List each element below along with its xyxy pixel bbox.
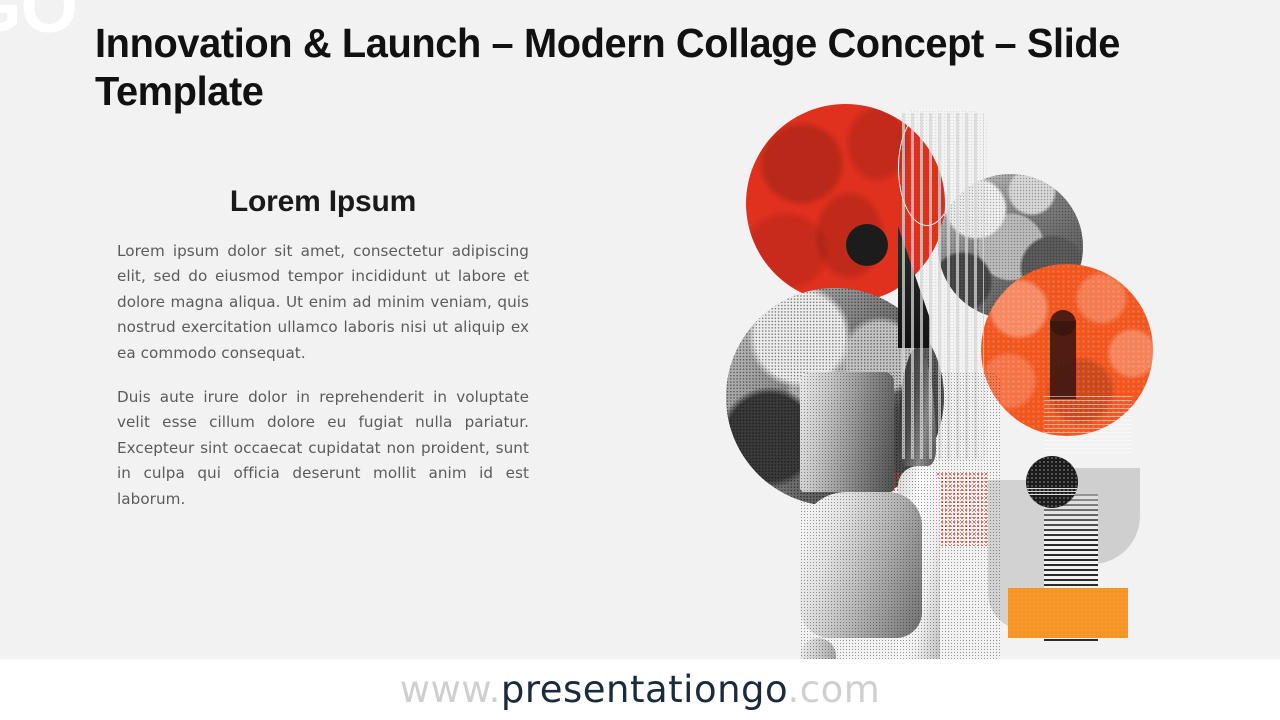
black-circle-stripes: [1026, 488, 1078, 496]
hand-graphic: [800, 372, 1000, 659]
footer-bar: www.presentationgo.com: [0, 659, 1280, 720]
text-content-column: Lorem Ipsum Lorem ipsum dolor sit amet, …: [117, 185, 529, 512]
rocket-collage-illustration: [726, 96, 1126, 659]
website-url[interactable]: www.presentationgo.com: [400, 668, 881, 711]
content-heading: Lorem Ipsum: [117, 185, 529, 219]
forearm-speckle: [800, 372, 1000, 659]
body-paragraph-1: Lorem ipsum dolor sit amet, consectetur …: [117, 239, 529, 366]
slide-canvas: GO Innovation & Launch – Modern Collage …: [0, 0, 1280, 659]
url-prefix: www.: [400, 668, 501, 711]
black-dot-on-red: [846, 224, 888, 266]
screenshot-root: GO Innovation & Launch – Modern Collage …: [0, 0, 1280, 720]
orange-stripe-overlay: [1044, 396, 1132, 454]
amber-rectangle: [1008, 588, 1128, 638]
black-circle-speckle: [1026, 456, 1078, 508]
hand-forearm: [800, 372, 894, 492]
body-paragraph-2: Duis aute irure dolor in reprehenderit i…: [117, 385, 529, 512]
url-suffix: .com: [788, 668, 881, 711]
amber-rectangle-speckle: [1008, 588, 1128, 638]
url-brand: presentationgo: [501, 668, 788, 711]
presentationgo-logo-watermark: GO: [0, 0, 77, 44]
black-speckled-circle: [1026, 456, 1078, 508]
dark-bar-shape: [1050, 321, 1076, 399]
